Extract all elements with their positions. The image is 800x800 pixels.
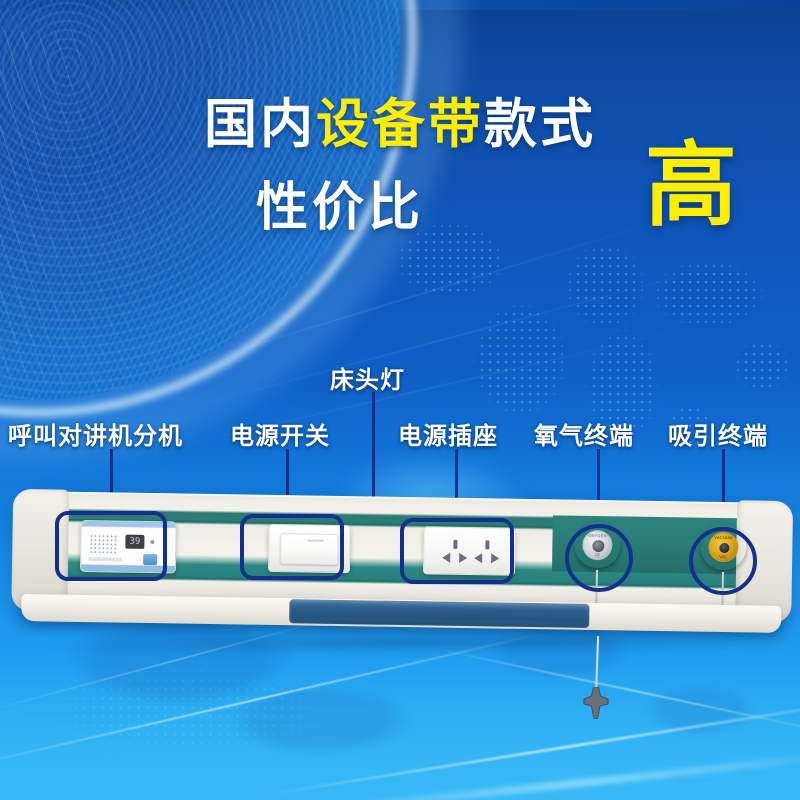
callout-label-suction-outlet: 吸引终端 bbox=[668, 416, 768, 451]
headline-line-1-accent: 设备带 bbox=[316, 95, 484, 154]
headline-line-1-part-2: 款式 bbox=[484, 95, 596, 154]
callout-label-power-socket: 电源插座 bbox=[398, 416, 498, 451]
highlight-box-power-switch bbox=[240, 514, 344, 580]
headline-line-1-part-1: 国内 bbox=[204, 95, 316, 154]
highlight-circle-oxygen-outlet bbox=[565, 524, 633, 592]
callout-label-intercom: 呼叫对讲机分机 bbox=[8, 416, 183, 451]
pull-cord-cross-handle[interactable] bbox=[583, 687, 609, 719]
callout-label-oxygen-outlet: 氧气终端 bbox=[534, 416, 634, 451]
headline-block: 国内设备带款式 性价比 高 bbox=[0, 0, 800, 330]
headline-line-2: 性价比 bbox=[80, 165, 600, 240]
callout-label-power-switch: 电源开关 bbox=[230, 416, 330, 451]
banner-stage: 国内设备带款式 性价比 高 呼叫对讲机分机 电源开关 床头灯 电源插座 氧气终端… bbox=[0, 0, 800, 800]
callout-label-bed-lamp: 床头灯 bbox=[330, 360, 405, 395]
highlight-box-intercom bbox=[55, 511, 167, 581]
headline-big-word: 高 bbox=[645, 140, 737, 232]
highlight-box-power-socket bbox=[400, 518, 514, 584]
highlight-circle-suction-outlet bbox=[689, 527, 757, 595]
bed-lamp-light-diffuser bbox=[289, 599, 589, 628]
